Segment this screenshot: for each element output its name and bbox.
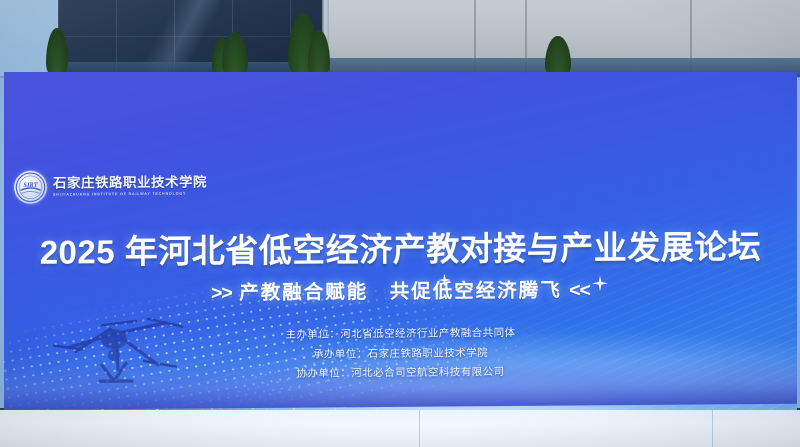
conference-banner: SIRT 石家庄铁路职业技术学院 SHIJIAZHUANG INSTITUTE … [4, 72, 797, 410]
screenshot-scene: SIRT 石家庄铁路职业技术学院 SHIJIAZHUANG INSTITUTE … [0, 0, 800, 447]
logo-text-block: 石家庄铁路职业技术学院 SHIJIAZHUANG INSTITUTE OF RA… [53, 176, 207, 198]
banner-surface: SIRT 石家庄铁路职业技术学院 SHIJIAZHUANG INSTITUTE … [4, 72, 797, 410]
banner-subtitle: >> 产教融合赋能 共促低空经济腾飞 << [4, 272, 797, 307]
stage-floor [0, 408, 800, 447]
school-name-cn: 石家庄铁路职业技术学院 [53, 176, 207, 191]
chevron-left-icon: << [569, 279, 590, 301]
svg-text:SIRT: SIRT [23, 182, 38, 189]
banner-title: 2025 年河北省低空经济产教对接与产业发展论坛 [4, 220, 797, 274]
institution-logo: SIRT 石家庄铁路职业技术学院 SHIJIAZHUANG INSTITUTE … [14, 169, 207, 204]
organizer-list: 主办单位：河北省低空经济行业产教融合共同体 承办单位：石家庄铁路职业技术学院 协… [4, 322, 797, 387]
banner-subtitle-text: 产教融合赋能 共促低空经济腾飞 [239, 280, 562, 305]
school-emblem-icon: SIRT [14, 171, 47, 204]
school-name-en: SHIJIAZHUANG INSTITUTE OF RAILWAY TECHNO… [53, 193, 207, 198]
floor-seam [419, 410, 420, 447]
floor-seam [712, 410, 713, 447]
chevron-right-icon: >> [211, 282, 232, 304]
